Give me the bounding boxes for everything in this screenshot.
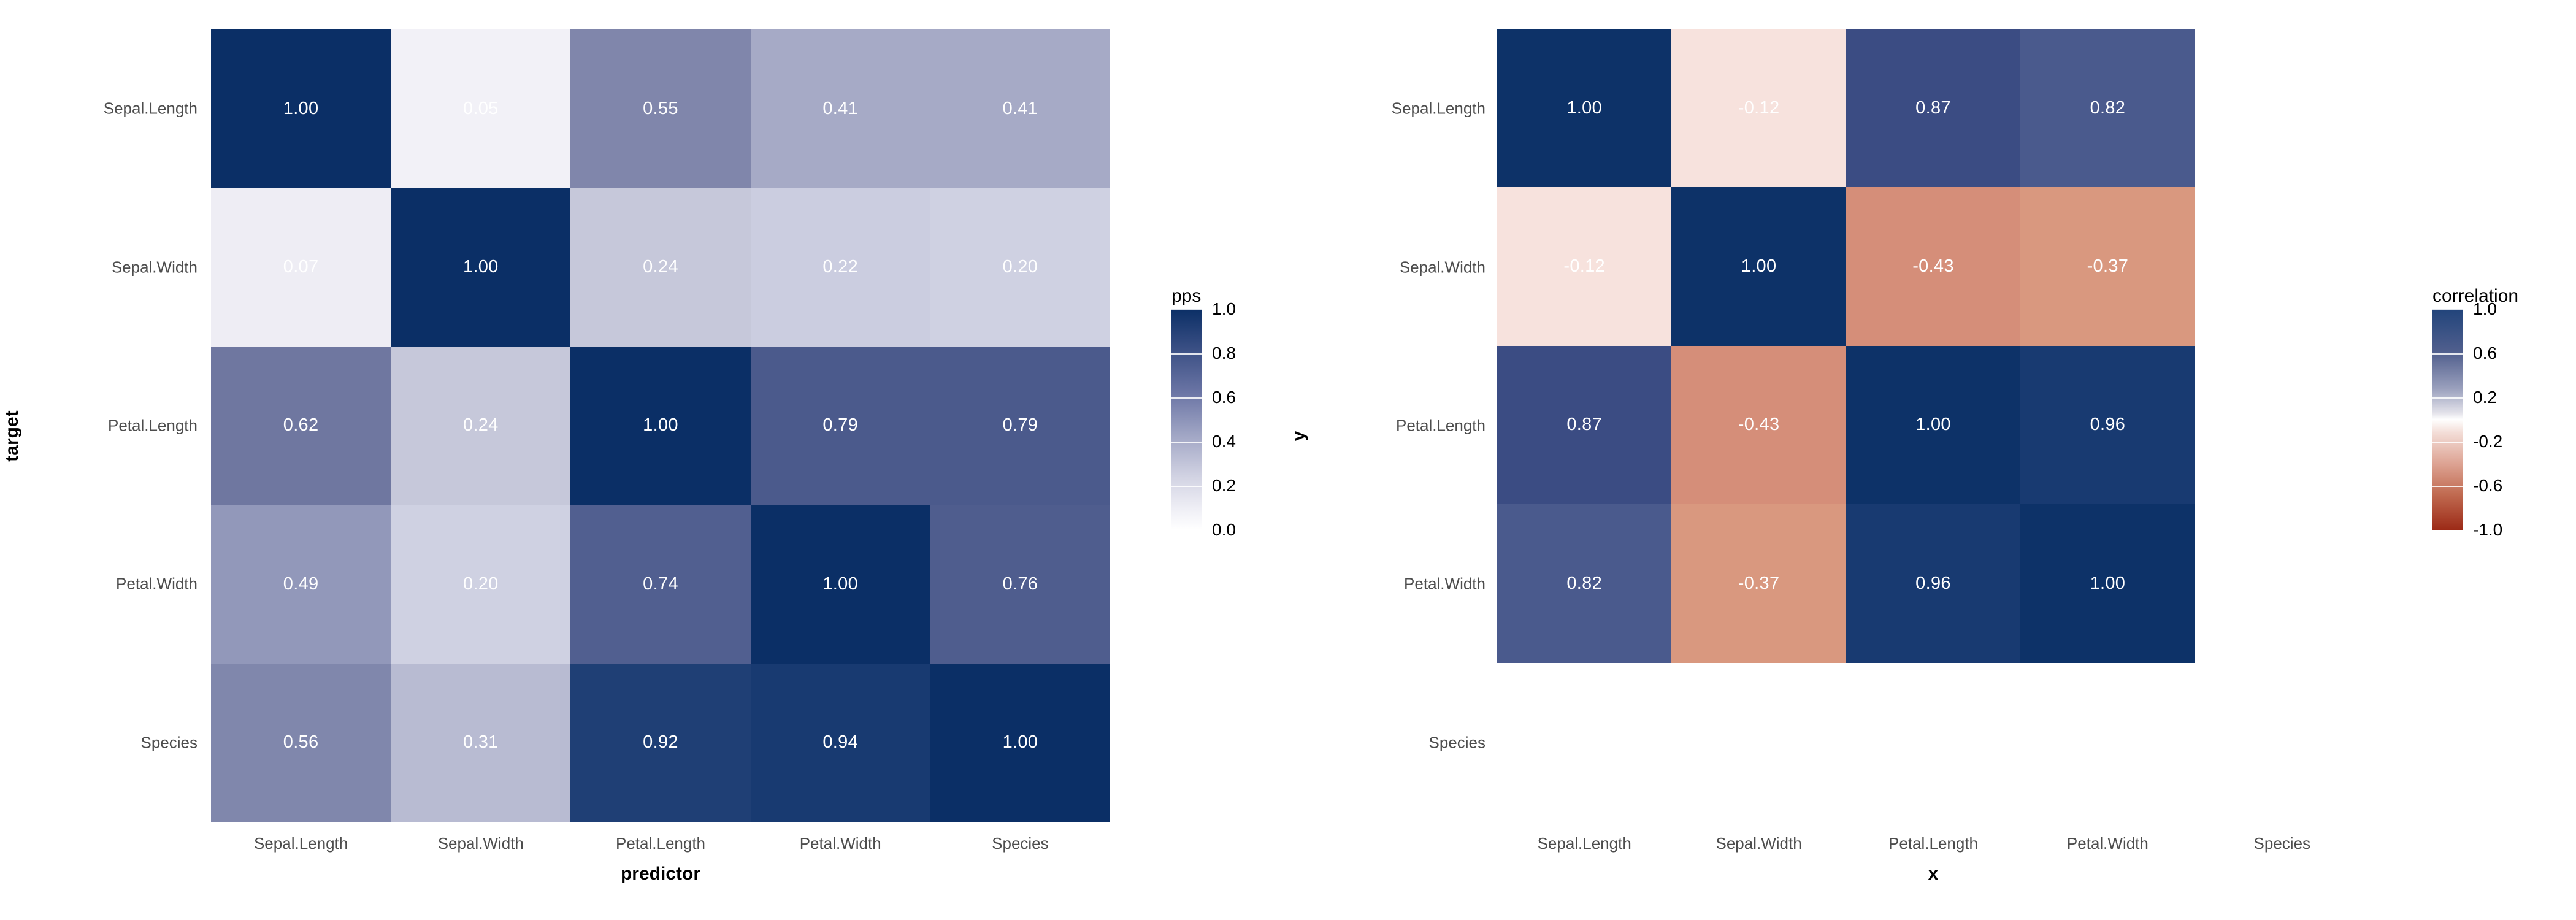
correlation-legend-colorbar — [2432, 309, 2463, 530]
pps-y-tick-label: Sepal.Width — [112, 258, 197, 277]
pps-legend-tickmark — [1171, 397, 1202, 399]
correlation-cell-value: -0.37 — [2087, 258, 2129, 275]
correlation-cell[interactable]: 0.82 — [1497, 504, 1671, 662]
correlation-cell[interactable] — [2195, 346, 2369, 504]
correlation-cell[interactable]: -0.12 — [1671, 29, 1846, 187]
pps-y-tick-label: Sepal.Length — [104, 99, 197, 118]
pps-legend-tickmarks — [1171, 309, 1202, 530]
pps-cell[interactable]: 0.76 — [930, 505, 1110, 663]
pps-cell[interactable]: 0.20 — [391, 505, 570, 663]
pps-legend-tick-label: 0.4 — [1212, 432, 1236, 451]
pps-x-axis-title: predictor — [211, 864, 1110, 884]
correlation-y-tick-label: Sepal.Width — [1400, 258, 1485, 277]
pps-cell-value: 1.00 — [643, 416, 678, 434]
correlation-y-axis-title: y — [1289, 399, 1309, 473]
pps-cell-value: 0.24 — [643, 258, 678, 276]
correlation-y-tick-label: Sepal.Length — [1392, 99, 1485, 118]
correlation-cell[interactable] — [1671, 663, 1846, 821]
correlation-legend-tickmark — [2432, 442, 2463, 443]
correlation-x-axis-tick-labels: Sepal.LengthSepal.WidthPetal.LengthPetal… — [1497, 834, 2369, 859]
pps-cell-value: 0.20 — [1003, 258, 1038, 276]
correlation-cell[interactable] — [2195, 187, 2369, 345]
correlation-y-tick-label: Petal.Width — [1404, 575, 1485, 594]
correlation-y-tick-label: Species — [1429, 733, 1486, 752]
pps-cell-value: 1.00 — [283, 100, 319, 118]
correlation-legend-tick-label: 0.2 — [2473, 388, 2497, 407]
correlation-x-tick-label: Petal.Length — [1888, 834, 1978, 853]
correlation-legend-tick-label: -1.0 — [2473, 520, 2502, 540]
correlation-legend-tickmark — [2432, 309, 2463, 310]
pps-cell[interactable]: 0.41 — [751, 29, 930, 188]
correlation-cell[interactable]: -0.37 — [1671, 504, 1846, 662]
pps-cell-value: 0.79 — [822, 416, 858, 434]
pps-cell-value: 0.56 — [283, 734, 319, 751]
correlation-cell[interactable] — [2020, 663, 2195, 821]
pps-y-tick-label: Petal.Width — [116, 575, 197, 594]
pps-cell[interactable]: 0.94 — [751, 664, 930, 822]
correlation-cell[interactable] — [2195, 29, 2369, 187]
pps-cell-value: 0.20 — [463, 575, 499, 593]
correlation-legend-tickmarks — [2432, 309, 2463, 530]
pps-legend-tick-label: 0.6 — [1212, 388, 1236, 407]
correlation-x-tick-label: Sepal.Length — [1538, 834, 1631, 853]
correlation-heatmap-grid: 1.00-0.120.870.82-0.121.00-0.43-0.370.87… — [1497, 29, 2369, 821]
pps-cell[interactable]: 1.00 — [211, 29, 391, 188]
correlation-cell-value: 1.00 — [1741, 258, 1777, 275]
correlation-legend-tick-label: 0.6 — [2473, 343, 2497, 363]
pps-legend-tickmark — [1171, 530, 1202, 531]
pps-cell-value: 0.07 — [283, 258, 319, 276]
correlation-cell[interactable] — [2195, 663, 2369, 821]
pps-cell-value: 0.49 — [283, 575, 319, 593]
correlation-y-axis-tick-labels: Sepal.LengthSepal.WidthPetal.LengthPetal… — [1288, 29, 1485, 822]
correlation-x-tick-label: Petal.Width — [2067, 834, 2149, 853]
pps-x-axis-tick-labels: Sepal.LengthSepal.WidthPetal.LengthPetal… — [211, 834, 1110, 859]
correlation-legend-tickmark — [2432, 530, 2463, 531]
pps-x-tick-label: Petal.Length — [616, 834, 705, 853]
correlation-cell[interactable]: 1.00 — [2020, 504, 2195, 662]
pps-cell-value: 0.74 — [643, 575, 678, 593]
pps-legend-tick-label: 0.2 — [1212, 476, 1236, 496]
pps-cell[interactable]: 0.24 — [391, 347, 570, 505]
pps-cell[interactable]: 0.41 — [930, 29, 1110, 188]
pps-cell[interactable]: 0.07 — [211, 188, 391, 346]
correlation-cell-value: 1.00 — [1915, 416, 1951, 434]
pps-cell[interactable]: 0.74 — [570, 505, 750, 663]
pps-cell[interactable]: 0.49 — [211, 505, 391, 663]
correlation-cell[interactable]: -0.43 — [1671, 346, 1846, 504]
correlation-cell-value: 0.82 — [1566, 575, 1602, 592]
pps-cell[interactable]: 0.79 — [751, 347, 930, 505]
pps-cell[interactable]: 0.92 — [570, 664, 750, 822]
pps-legend-tick-label: 0.8 — [1212, 343, 1236, 363]
pps-cell-value: 1.00 — [1003, 734, 1038, 751]
pps-x-tick-label: Sepal.Width — [438, 834, 524, 853]
correlation-cell[interactable]: 0.82 — [2020, 29, 2195, 187]
pps-cell[interactable]: 1.00 — [751, 505, 930, 663]
correlation-cell-value: -0.43 — [1738, 416, 1780, 434]
correlation-legend-tick-label: 1.0 — [2473, 299, 2497, 319]
correlation-cell[interactable] — [1846, 663, 2020, 821]
pps-cell-value: 1.00 — [463, 258, 499, 276]
pps-legend: pps 1.00.80.60.40.20.0 — [1171, 287, 1279, 530]
correlation-cell-value: 0.87 — [1566, 416, 1602, 434]
pps-legend-colorbar — [1171, 309, 1202, 530]
pps-y-axis-title: target — [2, 399, 23, 473]
correlation-cell[interactable]: 1.00 — [1846, 346, 2020, 504]
pps-cell[interactable]: 0.22 — [751, 188, 930, 346]
pps-cell[interactable]: 0.31 — [391, 664, 570, 822]
pps-cell-value: 0.24 — [463, 416, 499, 434]
correlation-cell-value: 1.00 — [2090, 575, 2126, 592]
correlation-cell[interactable]: 1.00 — [1497, 29, 1671, 187]
pps-cell[interactable]: 1.00 — [570, 347, 750, 505]
pps-cell[interactable]: 0.62 — [211, 347, 391, 505]
correlation-cell-value: 0.96 — [1915, 575, 1951, 592]
correlation-cell-value: 0.96 — [2090, 416, 2126, 434]
pps-cell-value: 0.55 — [643, 100, 678, 118]
correlation-heatmap-panel: 1.00-0.120.870.82-0.121.00-0.43-0.370.87… — [1288, 0, 2576, 920]
pps-cell-value: 0.79 — [1003, 416, 1038, 434]
pps-legend-tickmark — [1171, 353, 1202, 355]
pps-cell[interactable]: 1.00 — [930, 664, 1110, 822]
correlation-cell-value: -0.37 — [1738, 575, 1780, 592]
correlation-cell[interactable] — [2195, 504, 2369, 662]
pps-cell-value: 0.92 — [643, 734, 678, 751]
pps-x-tick-label: Sepal.Length — [254, 834, 348, 853]
correlation-cell-value: -0.43 — [1912, 258, 1954, 275]
pps-cell[interactable]: 0.79 — [930, 347, 1110, 505]
pps-cell-value: 0.62 — [283, 416, 319, 434]
correlation-cell[interactable]: -0.43 — [1846, 187, 2020, 345]
pps-x-tick-label: Petal.Width — [800, 834, 881, 853]
pps-cell-value: 0.41 — [822, 100, 858, 118]
pps-legend-tickmark — [1171, 442, 1202, 443]
pps-cell[interactable]: 0.20 — [930, 188, 1110, 346]
correlation-cell-value: -0.12 — [1738, 99, 1780, 117]
pps-cell-value: 0.31 — [463, 734, 499, 751]
pps-cell-value: 0.05 — [463, 100, 499, 118]
correlation-y-tick-label: Petal.Length — [1396, 416, 1485, 435]
pps-y-axis-tick-labels: Sepal.LengthSepal.WidthPetal.LengthPetal… — [0, 29, 197, 822]
correlation-cell-value: 0.82 — [2090, 99, 2126, 117]
correlation-legend-tick-label: -0.6 — [2473, 476, 2502, 496]
correlation-legend-tick-labels: 1.00.60.2-0.2-0.6-1.0 — [2473, 309, 2540, 530]
pps-heatmap-grid: 1.000.050.550.410.410.071.000.240.220.20… — [211, 29, 1110, 822]
pps-cell[interactable]: 0.05 — [391, 29, 570, 188]
correlation-legend-tickmark — [2432, 397, 2463, 399]
pps-cell[interactable]: 0.55 — [570, 29, 750, 188]
correlation-cell[interactable]: 1.00 — [1671, 187, 1846, 345]
correlation-legend-tickmark — [2432, 353, 2463, 355]
pps-legend-tick-labels: 1.00.80.60.40.20.0 — [1212, 309, 1279, 530]
pps-x-tick-label: Species — [992, 834, 1049, 853]
pps-cell[interactable]: 1.00 — [391, 188, 570, 346]
pps-cell-value: 0.76 — [1003, 575, 1038, 593]
pps-cell-value: 1.00 — [822, 575, 858, 593]
pps-y-tick-label: Petal.Length — [108, 416, 197, 435]
pps-cell-value: 0.41 — [1003, 100, 1038, 118]
pps-heatmap-panel: 1.000.050.550.410.410.071.000.240.220.20… — [0, 0, 1288, 920]
pps-cell[interactable]: 0.56 — [211, 664, 391, 822]
pps-legend-tickmark — [1171, 309, 1202, 310]
pps-y-tick-label: Species — [141, 733, 198, 752]
correlation-cell[interactable]: -0.12 — [1497, 187, 1671, 345]
pps-cell-value: 0.94 — [822, 734, 858, 751]
correlation-x-tick-label: Sepal.Width — [1716, 834, 1802, 853]
correlation-x-axis-title: x — [1497, 864, 2369, 884]
correlation-cell-value: 0.87 — [1915, 99, 1951, 117]
correlation-cell[interactable]: 0.96 — [1846, 504, 2020, 662]
correlation-legend-tickmark — [2432, 486, 2463, 487]
correlation-cell[interactable] — [1497, 663, 1671, 821]
correlation-cell[interactable]: -0.37 — [2020, 187, 2195, 345]
pps-legend-tickmark — [1171, 486, 1202, 487]
correlation-cell-value: -0.12 — [1563, 258, 1605, 275]
pps-legend-tick-label: 0.0 — [1212, 520, 1236, 540]
correlation-cell[interactable]: 0.96 — [2020, 346, 2195, 504]
correlation-x-tick-label: Species — [2254, 834, 2311, 853]
pps-legend-tick-label: 1.0 — [1212, 299, 1236, 319]
correlation-legend: correlation 1.00.60.2-0.2-0.6-1.0 — [2432, 287, 2540, 530]
pps-cell-value: 0.22 — [822, 258, 858, 276]
correlation-cell-value: 1.00 — [1566, 99, 1602, 117]
correlation-legend-tick-label: -0.2 — [2473, 432, 2502, 451]
pps-cell[interactable]: 0.24 — [570, 188, 750, 346]
correlation-cell[interactable]: 0.87 — [1846, 29, 2020, 187]
correlation-cell[interactable]: 0.87 — [1497, 346, 1671, 504]
